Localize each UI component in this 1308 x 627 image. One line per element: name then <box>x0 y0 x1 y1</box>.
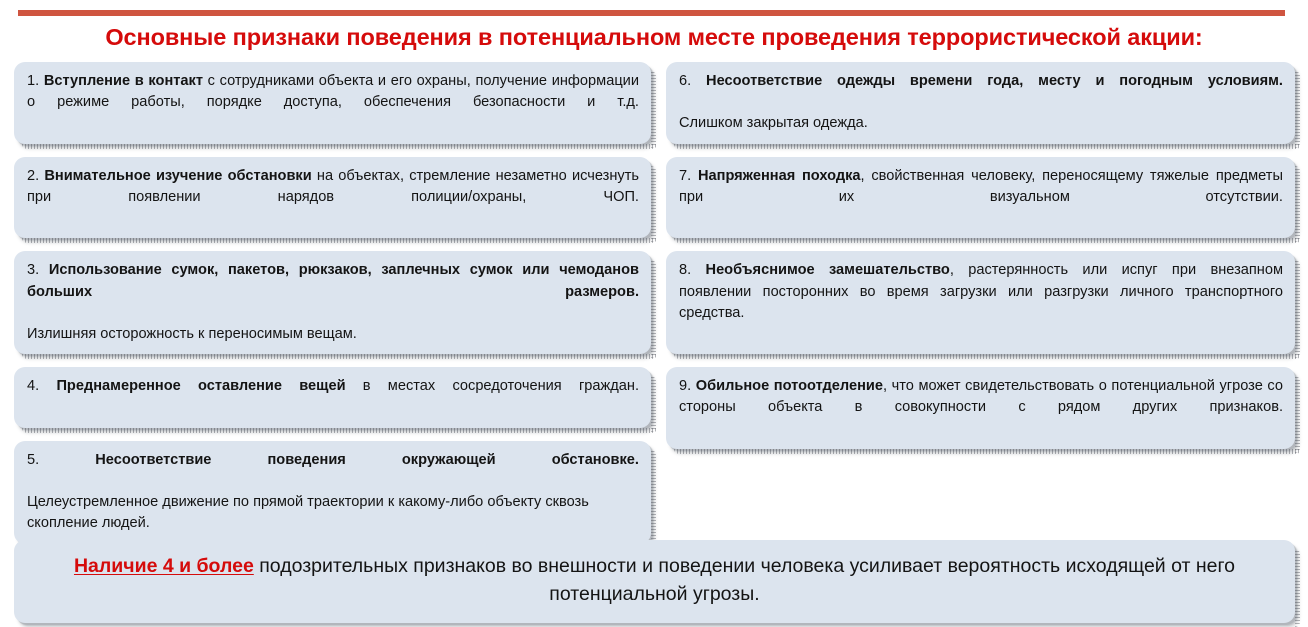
sign-card-5-follow: Целеустремленное движение по прямой трае… <box>27 492 639 534</box>
top-accent-rule <box>18 10 1285 16</box>
left-column: 1. Вступление в контакт с сотрудниками о… <box>14 62 651 557</box>
summary-highlight: Наличие 4 и более <box>74 555 254 577</box>
summary-text: подозрительных признаков во внешности и … <box>254 555 1235 605</box>
sign-card-9[interactable]: 9. Обильное потоотделение, что может сви… <box>666 367 1295 449</box>
sign-card-6-number: 6. <box>679 73 691 89</box>
sign-card-4-number: 4. <box>27 378 39 394</box>
sign-card-5-lead: 5. Несоответствие поведения окружающей о… <box>27 450 639 492</box>
sign-card-7-lead: 7. Напряженная походка, свойственная чел… <box>679 166 1283 230</box>
sign-card-4[interactable]: 4. Преднамеренное оставление вещей в мес… <box>14 367 651 427</box>
sign-card-9-number: 9. <box>679 378 691 394</box>
sign-card-1-number: 1. <box>27 73 39 89</box>
sign-card-6-bold: Несоответствие одежды времени года, мест… <box>706 73 1283 89</box>
sign-card-9-lead: 9. Обильное потоотделение, что может сви… <box>679 376 1283 440</box>
sign-card-6[interactable]: 6. Несоответствие одежды времени года, м… <box>666 62 1295 144</box>
sign-card-9-bold: Обильное потоотделение <box>696 378 883 394</box>
sign-card-2-bold: Внимательное изучение обстановки <box>44 168 311 184</box>
sign-card-5[interactable]: 5. Несоответствие поведения окружающей о… <box>14 441 651 544</box>
sign-card-7-bold: Напряженная походка <box>698 168 861 184</box>
sign-card-1[interactable]: 1. Вступление в контакт с сотрудниками о… <box>14 62 651 144</box>
sign-card-8-number: 8. <box>679 262 691 278</box>
sign-card-7-number: 7. <box>679 168 691 184</box>
sign-card-1-bold: Вступление в контакт <box>44 73 203 89</box>
cards-columns: 1. Вступление в контакт с сотрудниками о… <box>0 62 1308 532</box>
sign-card-4-lead: 4. Преднамеренное оставление вещей в мес… <box>27 376 639 418</box>
sign-card-3-bold: Использование сумок, пакетов, рюкзаков, … <box>27 262 639 299</box>
sign-card-8[interactable]: 8. Необъяснимое замешательство, растерян… <box>666 251 1295 354</box>
summary-banner[interactable]: Наличие 4 и более подозрительных признак… <box>14 540 1295 623</box>
sign-card-2[interactable]: 2. Внимательное изучение обстановки на о… <box>14 157 651 239</box>
sign-card-3-lead: 3. Использование сумок, пакетов, рюкзако… <box>27 260 639 324</box>
slide-root: Основные признаки поведения в потенциаль… <box>0 0 1308 617</box>
sign-card-6-lead: 6. Несоответствие одежды времени года, м… <box>679 71 1283 113</box>
sign-card-4-rest: в местах сосредоточения граждан. <box>346 378 639 394</box>
sign-card-3-number: 3. <box>27 262 39 278</box>
sign-card-8-lead: 8. Необъяснимое замешательство, растерян… <box>679 260 1283 345</box>
sign-card-7[interactable]: 7. Напряженная походка, свойственная чел… <box>666 157 1295 239</box>
sign-card-1-lead: 1. Вступление в контакт с сотрудниками о… <box>27 71 639 135</box>
sign-card-4-bold: Преднамеренное оставление вещей <box>56 378 345 394</box>
sign-card-2-number: 2. <box>27 168 39 184</box>
page-title: Основные признаки поведения в потенциаль… <box>0 24 1308 51</box>
sign-card-6-follow: Слишком закрытая одежда. <box>679 113 1283 134</box>
sign-card-5-number: 5. <box>27 452 39 468</box>
sign-card-8-bold: Необъяснимое замешательство <box>706 262 950 278</box>
sign-card-5-bold: Несоответствие поведения окружающей обст… <box>95 452 639 468</box>
sign-card-2-lead: 2. Внимательное изучение обстановки на о… <box>27 166 639 230</box>
right-column: 6. Несоответствие одежды времени года, м… <box>666 62 1295 462</box>
sign-card-3-follow: Излишняя осторожность к переносимым веща… <box>27 324 639 345</box>
sign-card-3[interactable]: 3. Использование сумок, пакетов, рюкзако… <box>14 251 651 354</box>
